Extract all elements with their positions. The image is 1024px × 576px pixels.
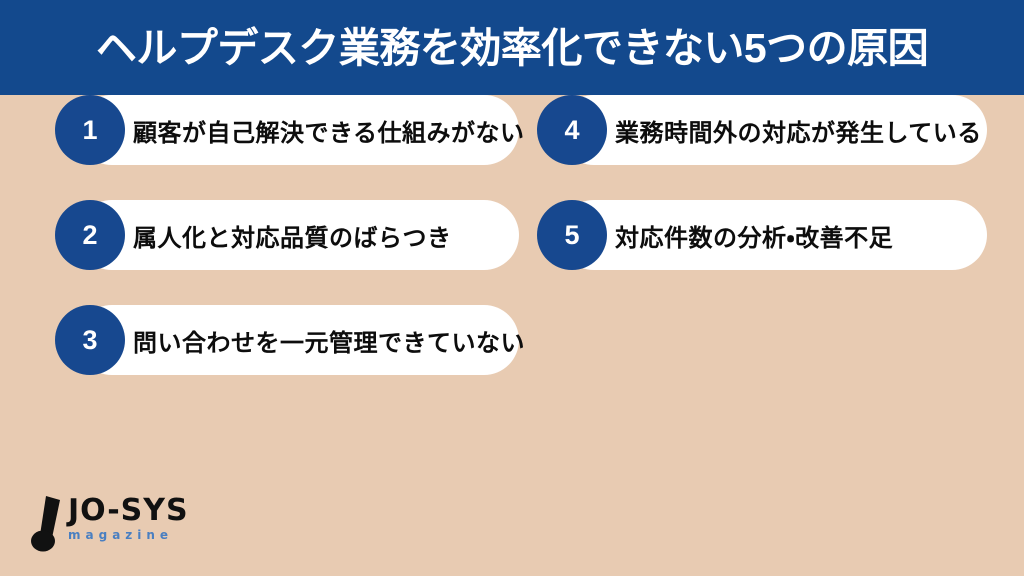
list-item-label: 属人化と対応品質のばらつき	[133, 200, 452, 270]
slide-root: ヘルプデスク業務を効率化できない5つの原因 1 顧客が自己解決できる仕組みがない…	[0, 0, 1024, 576]
logo-subtitle: magazine	[68, 529, 189, 541]
note-j-icon	[30, 494, 72, 552]
list-item-number-badge: 3	[55, 305, 125, 375]
list-item-number-badge: 4	[537, 95, 607, 165]
brand-logo: JO-SYS magazine	[30, 492, 220, 554]
logo-wordmark: JO-SYS	[68, 496, 189, 526]
list-item-label: 対応件数の分析・改善不足	[615, 200, 893, 270]
logo-text: JO-SYS magazine	[68, 496, 189, 541]
list-item-number-badge: 5	[537, 200, 607, 270]
page-title: ヘルプデスク業務を効率化できない5つの原因	[96, 28, 928, 69]
list-item-label: 業務時間外の対応が発生している	[615, 95, 982, 165]
list-item-label: 顧客が自己解決できる仕組みがない	[133, 95, 525, 165]
list-item-number-badge: 2	[55, 200, 125, 270]
list-item-label: 問い合わせを一元管理できていない	[133, 305, 525, 375]
list-item-number-badge: 1	[55, 95, 125, 165]
header-band: ヘルプデスク業務を効率化できない5つの原因	[0, 0, 1024, 95]
